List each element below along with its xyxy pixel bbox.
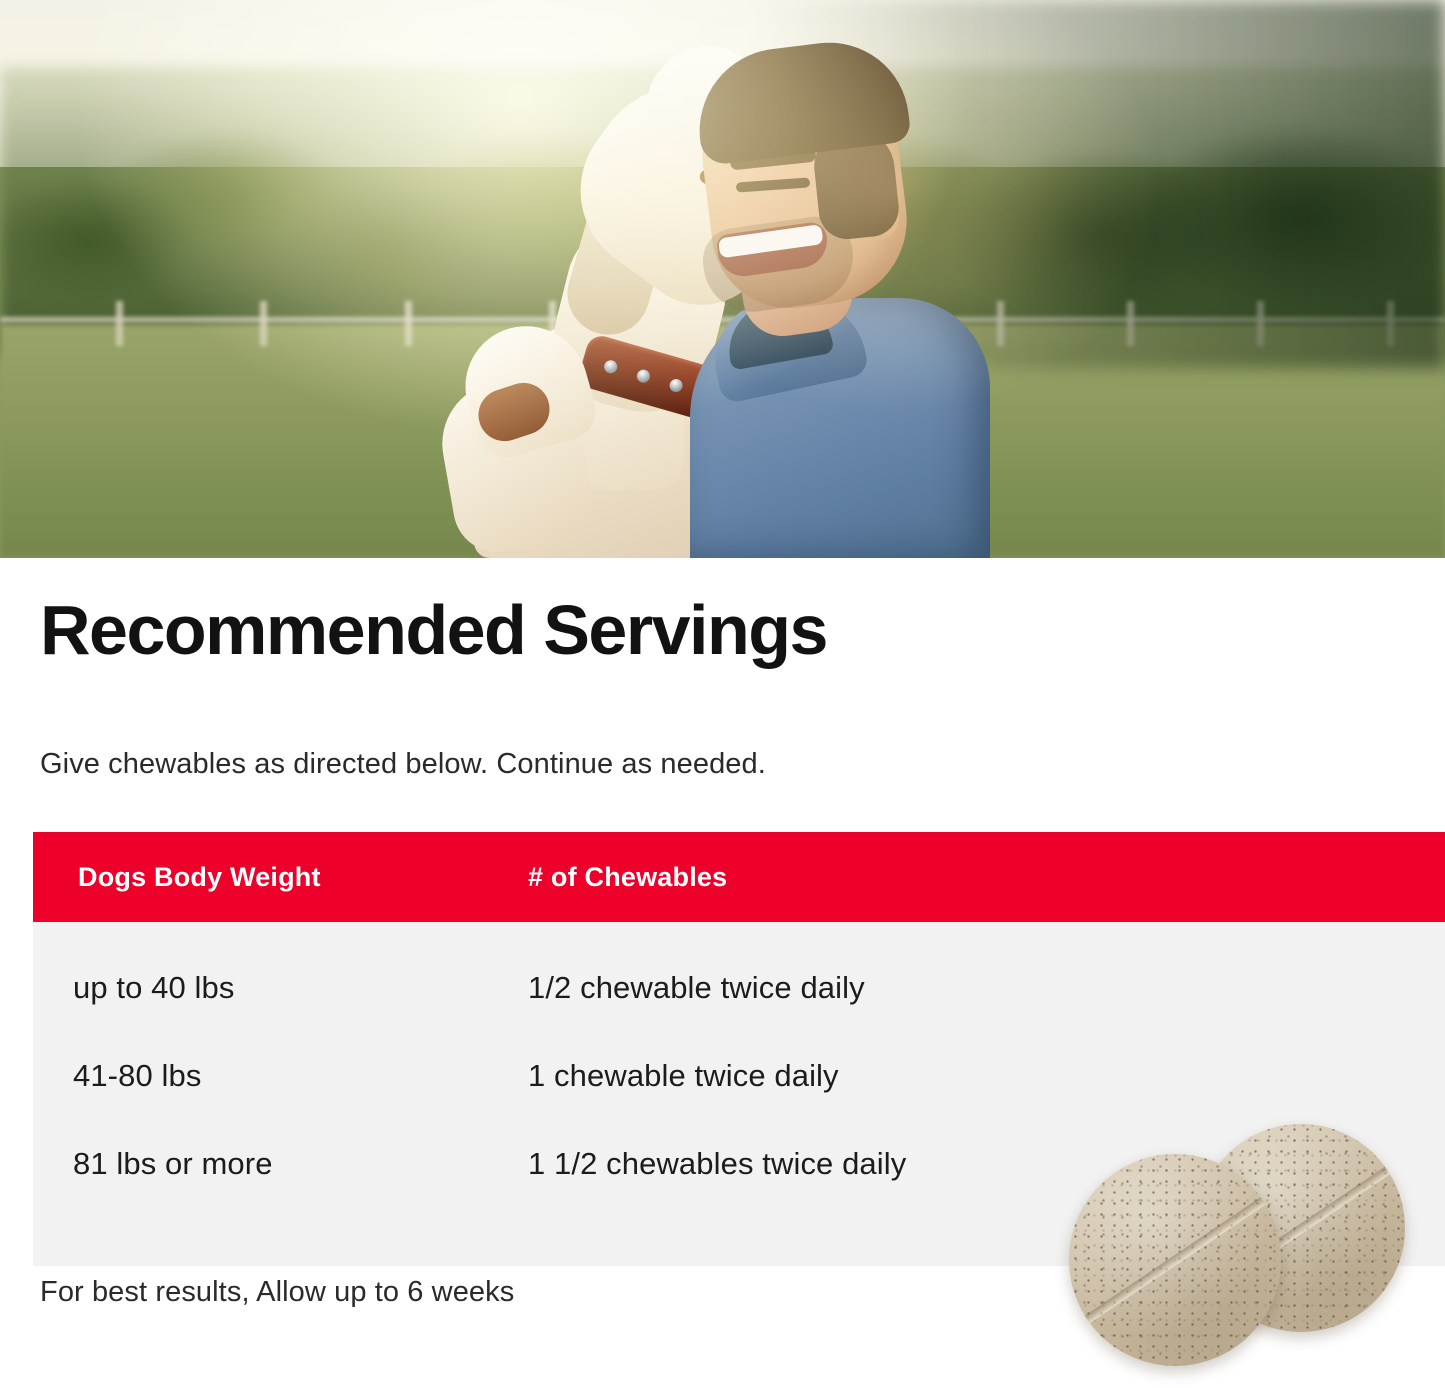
cell-chewables: 1 chewable twice daily (528, 1058, 839, 1094)
table-row: up to 40 lbs 1/2 chewable twice daily (33, 944, 1445, 1032)
collar-stud (603, 359, 619, 375)
cell-weight: 81 lbs or more (33, 1146, 528, 1182)
collar-stud (635, 368, 651, 384)
cell-chewables: 1/2 chewable twice daily (528, 970, 865, 1006)
table-header-dogs-body-weight: Dogs Body Weight (33, 862, 528, 893)
fence-post (405, 301, 412, 346)
man-figure (690, 38, 1020, 558)
hero-photo-man-with-dog (0, 0, 1445, 558)
table-row: 41-80 lbs 1 chewable twice daily (33, 1032, 1445, 1120)
table-header-number-of-chewables: # of Chewables (528, 862, 727, 893)
footer-note: For best results, Allow up to 6 weeks (40, 1276, 514, 1309)
chewable-tablets-image (1055, 1118, 1405, 1386)
intro-instruction-text: Give chewables as directed below. Contin… (40, 748, 766, 781)
product-info-page: Recommended Servings Give chewables as d… (0, 0, 1445, 1388)
chewable-tablet-front (1069, 1154, 1281, 1366)
cell-chewables: 1 1/2 chewables twice daily (528, 1146, 906, 1182)
page-title: Recommended Servings (40, 594, 827, 668)
cell-weight: up to 40 lbs (33, 970, 528, 1006)
fence-post (260, 301, 267, 346)
table-header-row: Dogs Body Weight # of Chewables (33, 832, 1445, 922)
cell-weight: 41-80 lbs (33, 1058, 528, 1094)
collar-stud (668, 378, 684, 394)
fence-post (116, 301, 123, 346)
